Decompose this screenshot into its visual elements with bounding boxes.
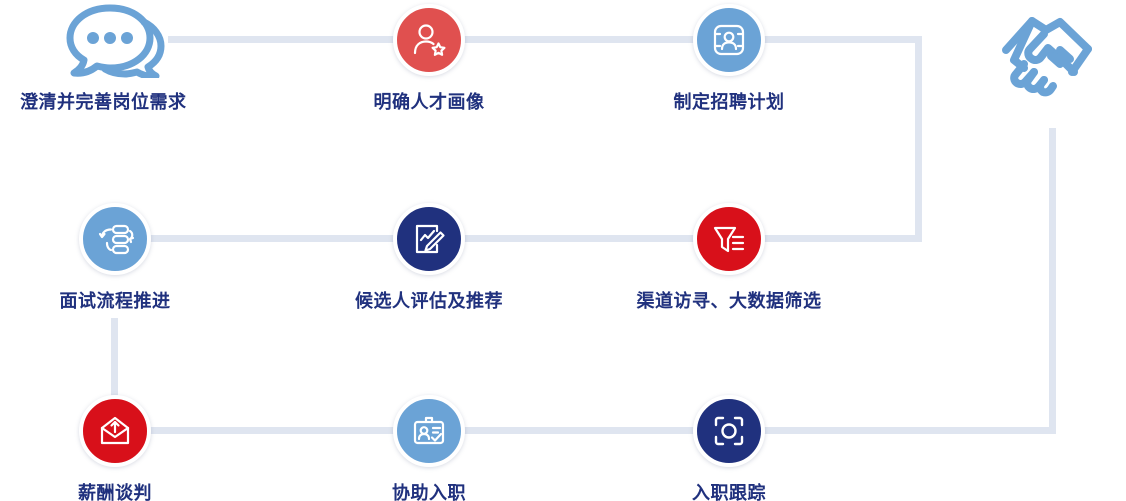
node-interview-process-circle — [79, 203, 151, 275]
person-frame-icon — [709, 20, 749, 60]
recruitment-flow-diagram: 澄清并完善岗位需求 明确人才画像 — [0, 0, 1126, 501]
id-badge-check-icon — [409, 411, 449, 451]
node-channel-search-label: 渠道访寻、大数据筛选 — [629, 287, 829, 313]
connector-right-down-row2 — [915, 36, 922, 242]
node-clarify-requirements-label: 澄清并完善岗位需求 — [20, 88, 187, 114]
node-interview-process-icon-wrap — [79, 203, 151, 275]
node-recruitment-plan-icon-wrap — [693, 4, 765, 76]
envelope-up-icon — [95, 411, 135, 451]
node-onboarding-support[interactable]: 协助入职 — [329, 395, 529, 501]
focus-target-icon — [709, 411, 749, 451]
node-channel-search-icon-wrap — [693, 203, 765, 275]
node-salary-negotiation[interactable]: 薪酬谈判 — [15, 395, 215, 501]
funnel-filter-icon — [709, 219, 749, 259]
node-handshake-end-icon-wrap — [988, 2, 1116, 102]
node-candidate-assessment-label: 候选人评估及推荐 — [329, 287, 529, 313]
handshake-icon — [988, 2, 1116, 102]
node-onboarding-tracking-label: 入职跟踪 — [629, 479, 829, 501]
node-salary-negotiation-circle — [79, 395, 151, 467]
node-talent-profile-icon-wrap — [393, 4, 465, 76]
node-onboarding-support-label: 协助入职 — [329, 479, 529, 501]
person-star-icon — [409, 20, 449, 60]
workflow-icon — [95, 219, 135, 259]
node-channel-search-circle — [693, 203, 765, 275]
node-salary-negotiation-label: 薪酬谈判 — [15, 479, 215, 501]
node-talent-profile-circle — [393, 4, 465, 76]
node-candidate-assessment[interactable]: 候选人评估及推荐 — [329, 203, 529, 313]
node-onboarding-support-circle — [393, 395, 465, 467]
node-interview-process[interactable]: 面试流程推进 — [15, 203, 215, 313]
node-onboarding-tracking-icon-wrap — [693, 395, 765, 467]
node-onboarding-tracking-circle — [693, 395, 765, 467]
node-onboarding-support-icon-wrap — [393, 395, 465, 467]
connector-outer-right-vertical — [1049, 128, 1056, 434]
node-talent-profile[interactable]: 明确人才画像 — [329, 4, 529, 114]
report-pencil-icon — [409, 219, 449, 259]
node-channel-search[interactable]: 渠道访寻、大数据筛选 — [629, 203, 829, 313]
node-recruitment-plan-label: 制定招聘计划 — [629, 88, 829, 114]
node-clarify-requirements-icon-wrap — [58, 0, 178, 78]
node-candidate-assessment-circle — [393, 203, 465, 275]
node-talent-profile-label: 明确人才画像 — [329, 88, 529, 114]
speech-bubbles-icon — [58, 0, 178, 78]
node-recruitment-plan[interactable]: 制定招聘计划 — [629, 4, 829, 114]
node-onboarding-tracking[interactable]: 入职跟踪 — [629, 395, 829, 501]
node-recruitment-plan-circle — [693, 4, 765, 76]
node-interview-process-label: 面试流程推进 — [15, 287, 215, 313]
node-candidate-assessment-icon-wrap — [393, 203, 465, 275]
node-salary-negotiation-icon-wrap — [79, 395, 151, 467]
